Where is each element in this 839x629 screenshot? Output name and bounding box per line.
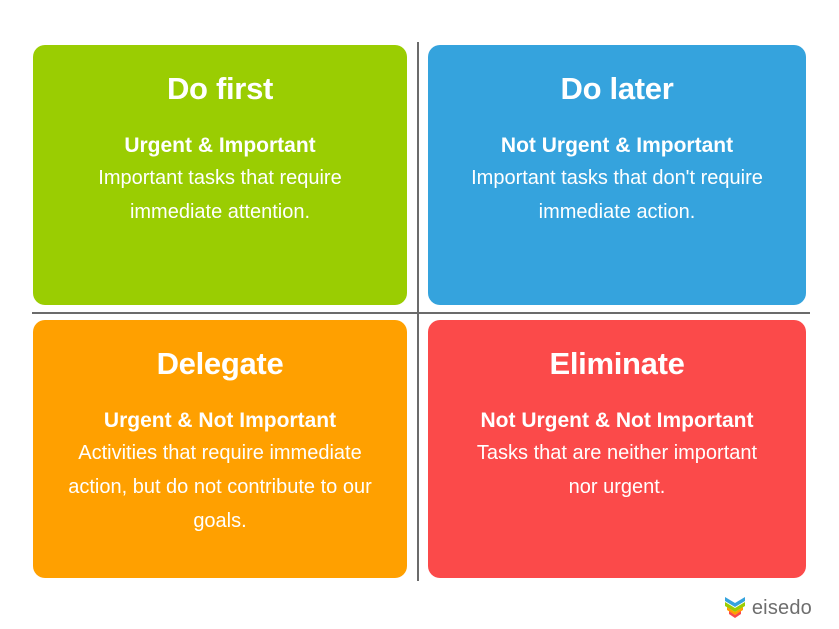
quadrant-description: Important tasks that don't require immed… [467,161,767,229]
quadrant-title: Delegate [157,344,284,384]
matrix-divider-horizontal [32,312,810,314]
quadrant-description: Important tasks that require immediate a… [70,161,370,229]
quadrant-title: Do later [560,69,673,109]
quadrant-subtitle: Not Urgent & Not Important [481,406,754,436]
brand-logo[interactable]: eisedo [724,596,812,619]
brand-wordmark: eisedo [752,597,812,619]
quadrant-eliminate[interactable]: Eliminate Not Urgent & Not Important Tas… [428,320,806,578]
quadrant-subtitle: Urgent & Important [124,131,315,161]
quadrant-subtitle: Not Urgent & Important [501,131,733,161]
quadrant-description: Activities that require immediate action… [60,436,380,538]
chevron-stack-icon [724,596,746,619]
quadrant-do-later[interactable]: Do later Not Urgent & Important Importan… [428,45,806,305]
quadrant-title: Eliminate [549,344,684,384]
quadrant-delegate[interactable]: Delegate Urgent & Not Important Activiti… [33,320,407,578]
quadrant-description: Tasks that are neither important nor urg… [462,436,772,504]
quadrant-do-first[interactable]: Do first Urgent & Important Important ta… [33,45,407,305]
eisenhower-matrix: Do first Urgent & Important Important ta… [0,0,839,629]
quadrant-title: Do first [167,69,273,109]
quadrant-subtitle: Urgent & Not Important [104,406,336,436]
